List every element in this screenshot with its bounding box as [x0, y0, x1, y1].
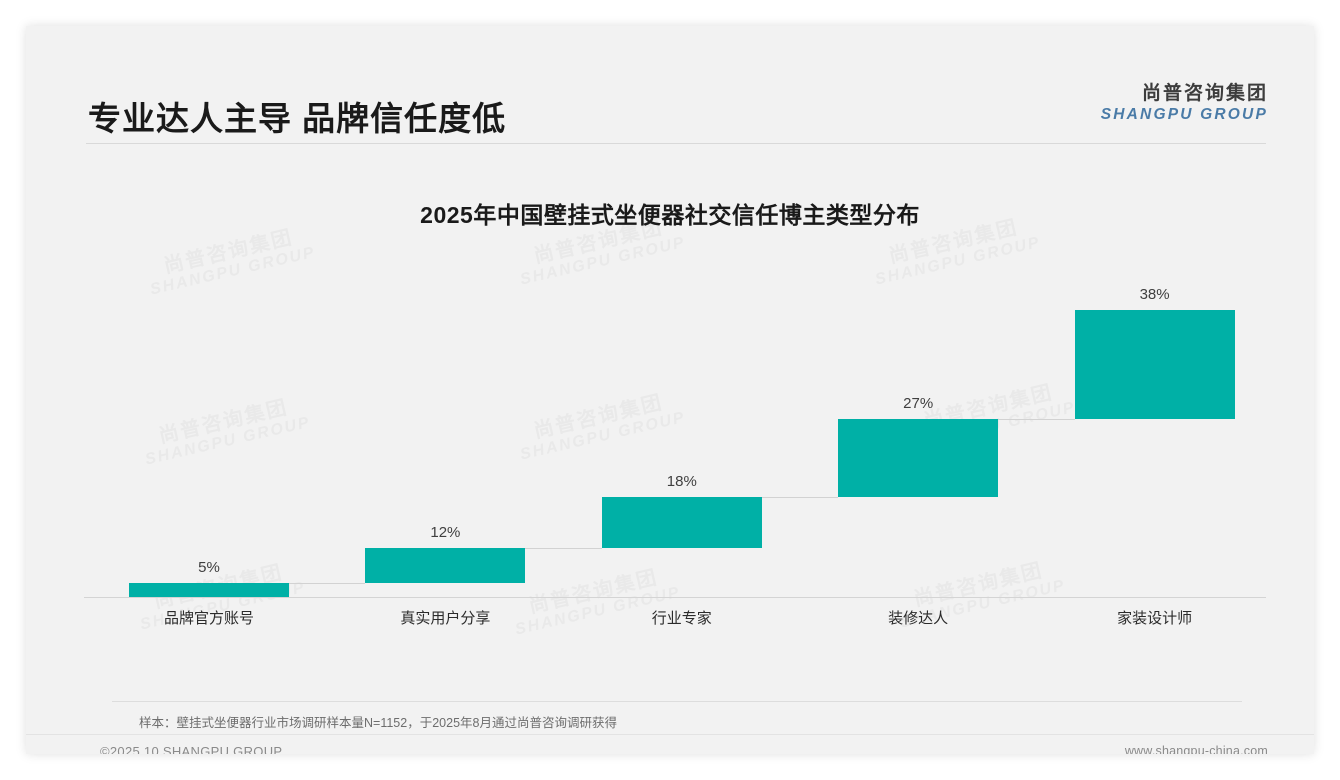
category-label-1: 品牌官方账号 [129, 607, 289, 628]
footnote-divider [112, 701, 1242, 702]
data-label-3: 18% [602, 473, 762, 490]
bar-5[interactable] [1075, 310, 1235, 419]
website-url[interactable]: www.shangpu-china.com [1125, 744, 1268, 754]
copyright-text: ©2025.10 SHANGPU GROUP [100, 744, 282, 754]
x-axis-line [84, 597, 1266, 598]
data-label-1: 5% [129, 559, 289, 576]
footnote-text: 样本：壁挂式坐便器行业市场调研样本量N=1152，于2025年8月通过尚普咨询调… [139, 712, 617, 731]
bar-1[interactable] [129, 583, 289, 597]
bar-3[interactable] [602, 497, 762, 549]
category-label-4: 装修达人 [838, 607, 998, 628]
connector-3 [762, 497, 838, 498]
category-label-3: 行业专家 [602, 607, 762, 628]
connector-4 [998, 419, 1074, 420]
slide: 尚普咨询集团 SHANGPU GROUP 尚普咨询集团 SHANGPU GROU… [26, 26, 1314, 754]
data-label-4: 27% [838, 395, 998, 412]
category-label-2: 真实用户分享 [365, 607, 525, 628]
waterfall-chart: 5%品牌官方账号12%真实用户分享18%行业专家27%装修达人38%家装设计师 [26, 26, 1314, 754]
connector-1 [289, 583, 365, 584]
bar-4[interactable] [838, 419, 998, 496]
data-label-5: 38% [1075, 286, 1235, 303]
bar-2[interactable] [365, 548, 525, 582]
footer-divider [26, 734, 1314, 735]
category-label-5: 家装设计师 [1075, 607, 1235, 628]
connector-2 [525, 548, 601, 549]
data-label-2: 12% [365, 524, 525, 541]
